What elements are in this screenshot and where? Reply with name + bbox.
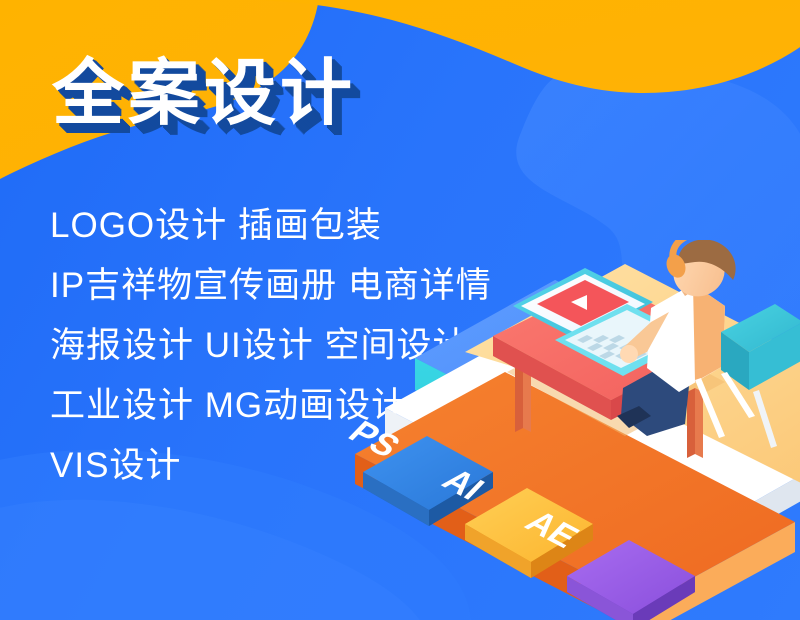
service-line: 工业设计 MG动画设计 xyxy=(50,376,570,436)
service-line: 海报设计 UI设计 空间设计 xyxy=(50,316,570,376)
page-title: 全案设计 xyxy=(52,58,356,130)
service-list: LOGO设计 插画包装 IP吉祥物宣传画册 电商详情 海报设计 UI设计 空间设… xyxy=(50,196,570,496)
service-line: LOGO设计 插画包装 xyxy=(50,196,570,256)
service-line: IP吉祥物宣传画册 电商详情 xyxy=(50,256,570,316)
service-line: VIS设计 xyxy=(50,436,570,496)
promo-banner: 全案设计 LOGO设计 插画包装 IP吉祥物宣传画册 电商详情 海报设计 UI设… xyxy=(0,0,800,620)
